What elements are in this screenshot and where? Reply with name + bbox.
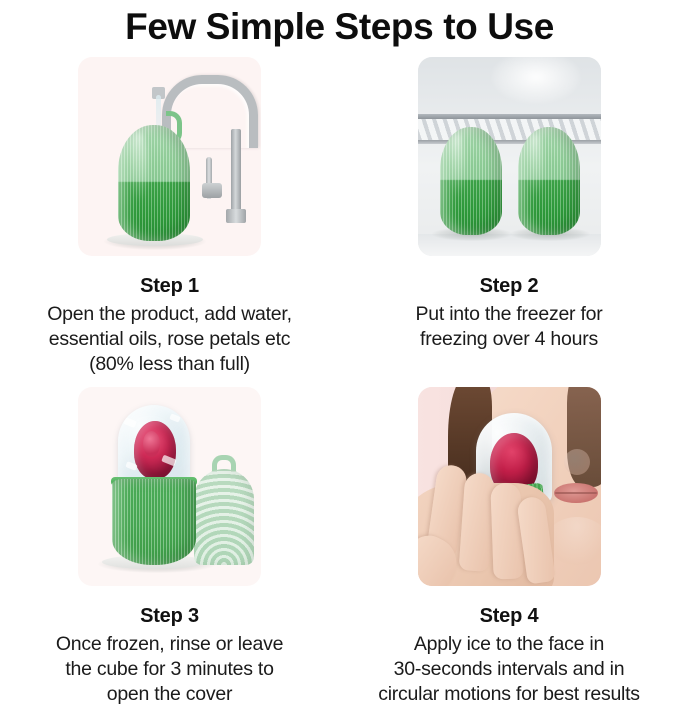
faucet-knob-icon [202, 183, 222, 198]
step-4-image [418, 387, 601, 586]
step-3-image [78, 387, 261, 586]
rose-petal-icon [143, 431, 160, 457]
page-title: Few Simple Steps to Use [0, 0, 679, 45]
step-1-label: Step 1 [47, 275, 292, 297]
ice-cube-product [440, 127, 502, 235]
ice-fragment-icon [123, 417, 137, 428]
step-cell-1: Step 1 Open the product, add water, esse… [0, 57, 339, 387]
step-1-caption: Step 1 Open the product, add water, esse… [39, 275, 300, 377]
infographic-page: Few Simple Steps to Use Step 1 Open the … [0, 0, 679, 702]
freezer-shelf-slats [418, 119, 601, 141]
step-1-description: Open the product, add water, essential o… [47, 302, 292, 377]
step-3-description: Once frozen, rinse or leave the cube for… [56, 632, 283, 707]
ice-cube-product [118, 125, 190, 241]
step-4-label: Step 4 [378, 605, 640, 627]
faucet-column-icon [231, 129, 241, 221]
step-2-label: Step 2 [416, 275, 603, 297]
model-nose [564, 449, 590, 475]
model-finger [490, 483, 523, 580]
step-cell-3: Step 3 Once frozen, rinse or leave the c… [0, 387, 339, 717]
cube-cover-product [194, 469, 254, 565]
cube-base-product [112, 479, 196, 565]
ice-fragment-icon [169, 413, 181, 422]
step-1-image [78, 57, 261, 256]
step-cell-2: Step 2 Put into the freezer for freezing… [339, 57, 679, 387]
faucet-base-icon [226, 209, 246, 223]
step-2-image [418, 57, 601, 256]
model-lip-line [555, 492, 597, 494]
step-4-description: Apply ice to the face in 30-seconds inte… [378, 632, 640, 707]
model-finger [458, 472, 495, 572]
step-3-label: Step 3 [56, 605, 283, 627]
step-4-caption: Step 4 Apply ice to the face in 30-secon… [370, 605, 648, 707]
ice-cube-product [518, 127, 580, 235]
frozen-ice-block [118, 405, 190, 487]
step-3-caption: Step 3 Once frozen, rinse or leave the c… [48, 605, 291, 707]
steps-grid: Step 1 Open the product, add water, esse… [0, 57, 679, 717]
step-cell-4: Step 4 Apply ice to the face in 30-secon… [339, 387, 679, 717]
step-2-description: Put into the freezer for freezing over 4… [416, 302, 603, 352]
step-2-caption: Step 2 Put into the freezer for freezing… [408, 275, 611, 352]
